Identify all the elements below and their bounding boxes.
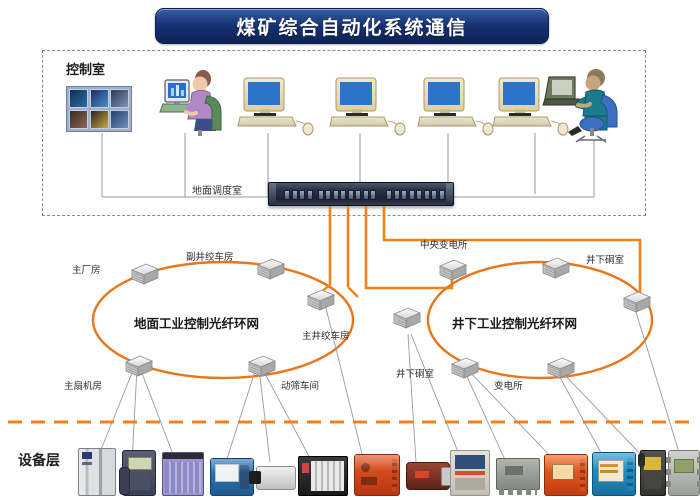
diagram-title-banner: 煤矿综合自动化系统通信 (155, 8, 549, 44)
device-explosion-proof-box (354, 454, 400, 496)
device-monitor-panel (450, 450, 490, 496)
ring-node-icon (543, 258, 569, 278)
page-title: 煤矿综合自动化系统通信 (236, 13, 467, 40)
switch-rack-ear (269, 183, 276, 205)
ring-node-icon (258, 259, 284, 279)
switch-port-group (284, 190, 313, 200)
video-wall-cell (69, 89, 88, 108)
ring-node-icon (548, 358, 574, 378)
node-label-main-plant: 主厂房 (72, 262, 101, 276)
underground-ring-title: 井下工业控制光纤环网 (452, 313, 577, 332)
device-controller-rack (298, 456, 348, 496)
equipment-layer-label: 设备层 (18, 450, 60, 470)
node-label-screening-workshop: 动筛车间 (281, 378, 319, 392)
switch-port-array (279, 189, 443, 201)
device-industrial-telephone (122, 450, 156, 496)
video-wall-cell (69, 110, 88, 129)
device-flameproof-sensor (406, 462, 450, 490)
rack-mount-network-switch (268, 182, 454, 206)
fiber-trunk-branch (312, 285, 358, 299)
ring-node-icon (308, 290, 334, 310)
device-junction-box (496, 458, 540, 490)
device-plc-rack (78, 448, 116, 496)
device-cctv-camera (256, 466, 296, 490)
video-wall-cell (90, 110, 109, 129)
node-label-central-substation: 中央变电所 (420, 237, 468, 251)
node-label-aux-shaft-winch: 副井绞车房 (186, 249, 234, 263)
node-label-underground-chamber-1: 井下硐室 (586, 252, 624, 266)
switch-port-group (318, 190, 377, 200)
switch-rack-ear (446, 183, 453, 205)
ring-node-icon (394, 308, 420, 328)
ring-node-icon (249, 356, 275, 376)
surface-ring-title: 地面工业控制光纤环网 (134, 313, 259, 332)
node-label-main-fan-room: 主扇机房 (64, 378, 102, 392)
video-wall (66, 86, 132, 132)
node-label-main-shaft-winch: 主井绞车房 (302, 328, 350, 342)
node-label-substation: 变电所 (494, 378, 523, 392)
ring-node-icon (440, 260, 466, 280)
video-wall-cell (110, 89, 129, 108)
fiber-trunk-lines (330, 206, 640, 296)
device-gas-monitor (210, 458, 254, 496)
device-explosion-proof-starter (544, 454, 588, 496)
node-label-underground-chamber-2: 井下硐室 (396, 366, 434, 380)
control-room-label: 控制室 (66, 59, 105, 78)
ring-node-icon (126, 356, 152, 376)
video-wall-cell (90, 89, 109, 108)
switch-port-group (386, 190, 445, 200)
mine-automation-network-diagram: 煤矿综合自动化系统通信 控制室 地面调度室 (0, 0, 700, 500)
ring-node-icon (452, 358, 478, 378)
device-flameproof-enclosure (668, 450, 700, 496)
ring-node-icon (132, 264, 158, 284)
device-io-module-rack (162, 452, 204, 496)
surface-dispatch-room-label: 地面调度室 (192, 182, 242, 197)
ring-node-icon (624, 292, 650, 312)
device-control-console (592, 452, 636, 496)
device-mine-telephone (640, 450, 666, 496)
video-wall-cell (110, 110, 129, 129)
